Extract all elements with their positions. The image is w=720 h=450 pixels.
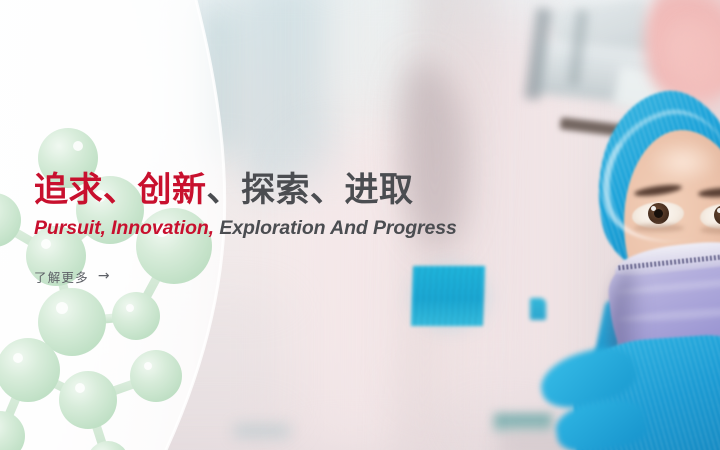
headline-dark-segment: 、探索、进取 xyxy=(207,170,414,210)
pupil-left xyxy=(654,209,663,218)
hero-banner: 追求、创新、探索、进取 Pursuit, Innovation, Explora… xyxy=(0,0,720,450)
subtitle-dark-segment: Exploration And Progress xyxy=(214,217,457,239)
lower-lid-left xyxy=(634,224,684,232)
headline-red-segment: 追求、创新 xyxy=(34,170,207,210)
page-title: 追求、创新、探索、进取 xyxy=(34,170,594,211)
learn-more-link[interactable]: 了解更多 → xyxy=(34,267,111,286)
subtitle-red-segment: Pursuit, Innovation, xyxy=(34,217,214,239)
learn-more-label: 了解更多 xyxy=(34,267,89,286)
page-subtitle: Pursuit, Innovation, Exploration And Pro… xyxy=(34,217,594,240)
hero-content: 追求、创新、探索、进取 Pursuit, Innovation, Explora… xyxy=(34,170,594,287)
eye-glint-left xyxy=(651,206,656,211)
arrow-right-icon: → xyxy=(98,269,111,283)
